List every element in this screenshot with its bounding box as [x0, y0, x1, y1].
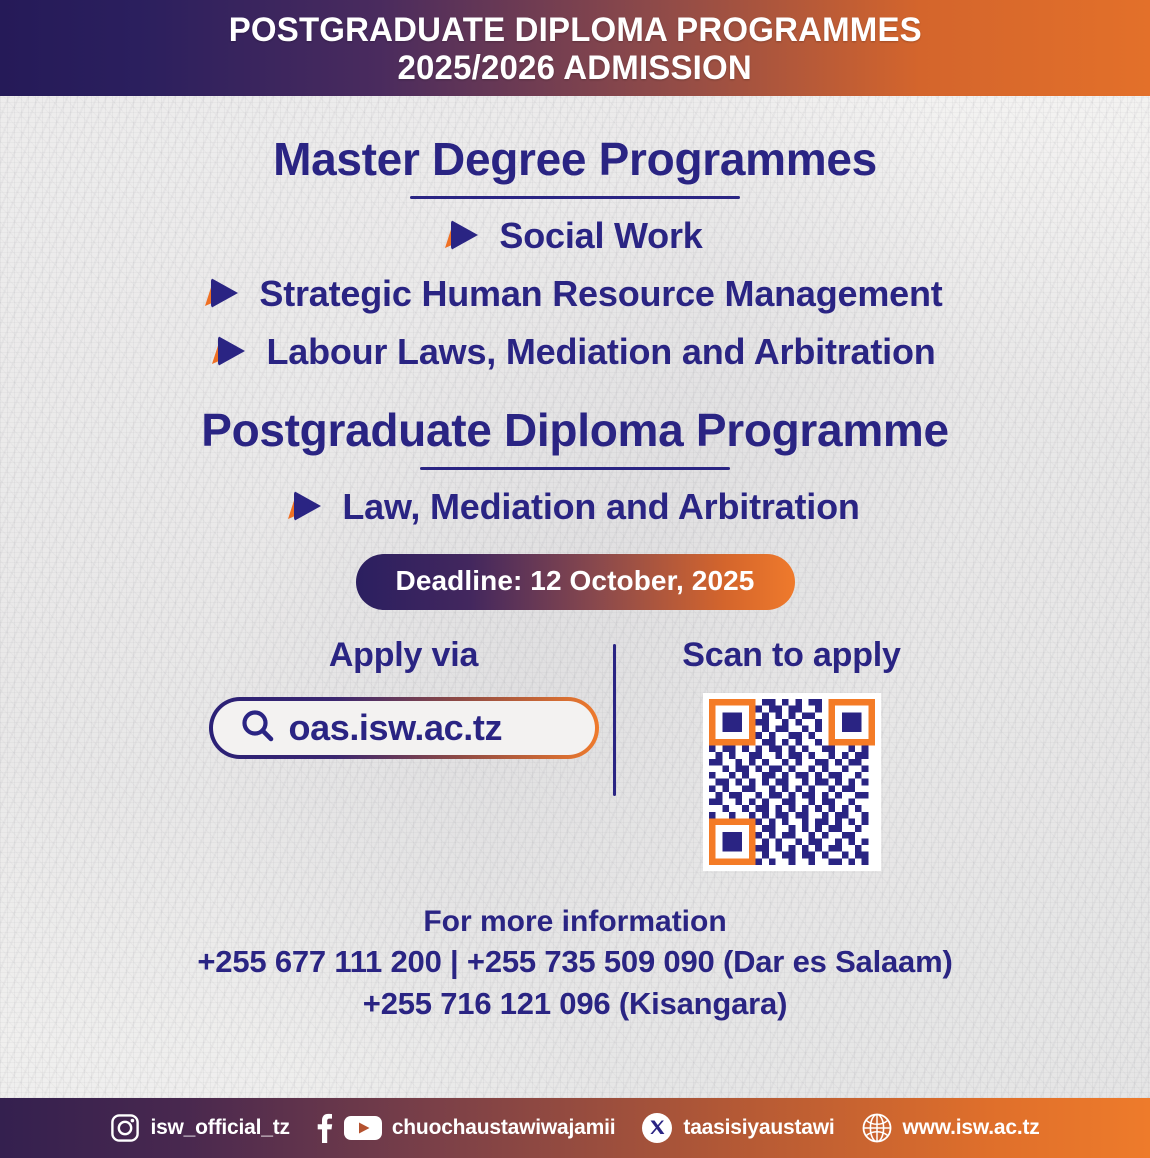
social-instagram[interactable]: isw_official_tz: [110, 1113, 289, 1143]
header-title-line-2: 2025/2026 ADMISSION: [398, 49, 752, 87]
social-x-twitter[interactable]: taasisiyaustawi: [641, 1112, 834, 1144]
social-handle: taasisiyaustawi: [683, 1116, 834, 1140]
triangle-bullet-icon: [207, 274, 245, 314]
triangle-bullet-icon: [290, 487, 328, 527]
application-url-text: oas.isw.ac.tz: [289, 707, 503, 749]
social-handle: www.isw.ac.tz: [903, 1116, 1040, 1140]
qr-code-icon[interactable]: [703, 693, 881, 871]
social-facebook-youtube[interactable]: chuochaustawiwajamii: [316, 1113, 616, 1143]
contact-phone-line-1: +255 677 111 200 | +255 735 509 090 (Dar…: [24, 943, 1126, 981]
globe-icon: [861, 1112, 893, 1144]
programme-label: Law, Mediation and Arbitration: [342, 486, 859, 528]
social-handle: isw_official_tz: [150, 1116, 289, 1140]
facebook-icon: [316, 1113, 334, 1143]
status-badge: Deadline: 12 October, 2025: [356, 554, 795, 610]
scan-to-apply-heading: Scan to apply: [682, 636, 900, 675]
triangle-bullet-icon: [214, 332, 252, 372]
list-item: Social Work: [24, 215, 1126, 257]
poster-header: POSTGRADUATE DIPLOMA PROGRAMMES 2025/202…: [0, 0, 1150, 96]
list-item: Labour Laws, Mediation and Arbitration: [24, 331, 1126, 373]
programme-label: Labour Laws, Mediation and Arbitration: [266, 331, 935, 373]
x-twitter-icon: [641, 1112, 673, 1144]
postgraduate-title-underline: [420, 467, 730, 470]
poster-footer: isw_official_tz chuochaustawiwajamii: [0, 1098, 1150, 1158]
apply-via-column: Apply via oas.isw.ac.tz: [205, 636, 613, 759]
header-title-line-1: POSTGRADUATE DIPLOMA PROGRAMMES: [228, 11, 921, 49]
deadline-container: Deadline: 12 October, 2025: [24, 554, 1126, 610]
scan-to-apply-column: Scan to apply: [616, 636, 946, 871]
application-url-field[interactable]: oas.isw.ac.tz: [209, 697, 599, 759]
triangle-bullet-icon: [447, 216, 485, 256]
list-item: Strategic Human Resource Management: [24, 273, 1126, 315]
programme-label: Social Work: [499, 215, 702, 257]
contact-phone-line-2: +255 716 121 096 (Kisangara): [24, 985, 1126, 1023]
postgraduate-programme-list: Law, Mediation and Arbitration: [24, 486, 1126, 528]
masters-programme-list: Social Work Strategic Human Resource Man…: [24, 215, 1126, 373]
youtube-icon: [344, 1114, 382, 1142]
apply-via-heading: Apply via: [329, 636, 478, 675]
search-icon: [239, 707, 277, 750]
postgraduate-section-title: Postgraduate Diploma Programme: [24, 403, 1126, 457]
programme-label: Strategic Human Resource Management: [259, 273, 942, 315]
contact-heading: For more information: [24, 905, 1126, 939]
masters-section-title: Master Degree Programmes: [24, 132, 1126, 186]
social-handle: chuochaustawiwajamii: [392, 1116, 616, 1140]
masters-title-underline: [410, 196, 740, 199]
social-website[interactable]: www.isw.ac.tz: [861, 1112, 1040, 1144]
poster-canvas: POSTGRADUATE DIPLOMA PROGRAMMES 2025/202…: [0, 0, 1150, 1158]
contact-section: For more information +255 677 111 200 | …: [24, 905, 1126, 1023]
apply-section: Apply via oas.isw.ac.tz Sc: [24, 636, 1126, 871]
instagram-icon: [110, 1113, 140, 1143]
poster-body: Master Degree Programmes Social Work Str…: [0, 132, 1150, 1023]
list-item: Law, Mediation and Arbitration: [24, 486, 1126, 528]
